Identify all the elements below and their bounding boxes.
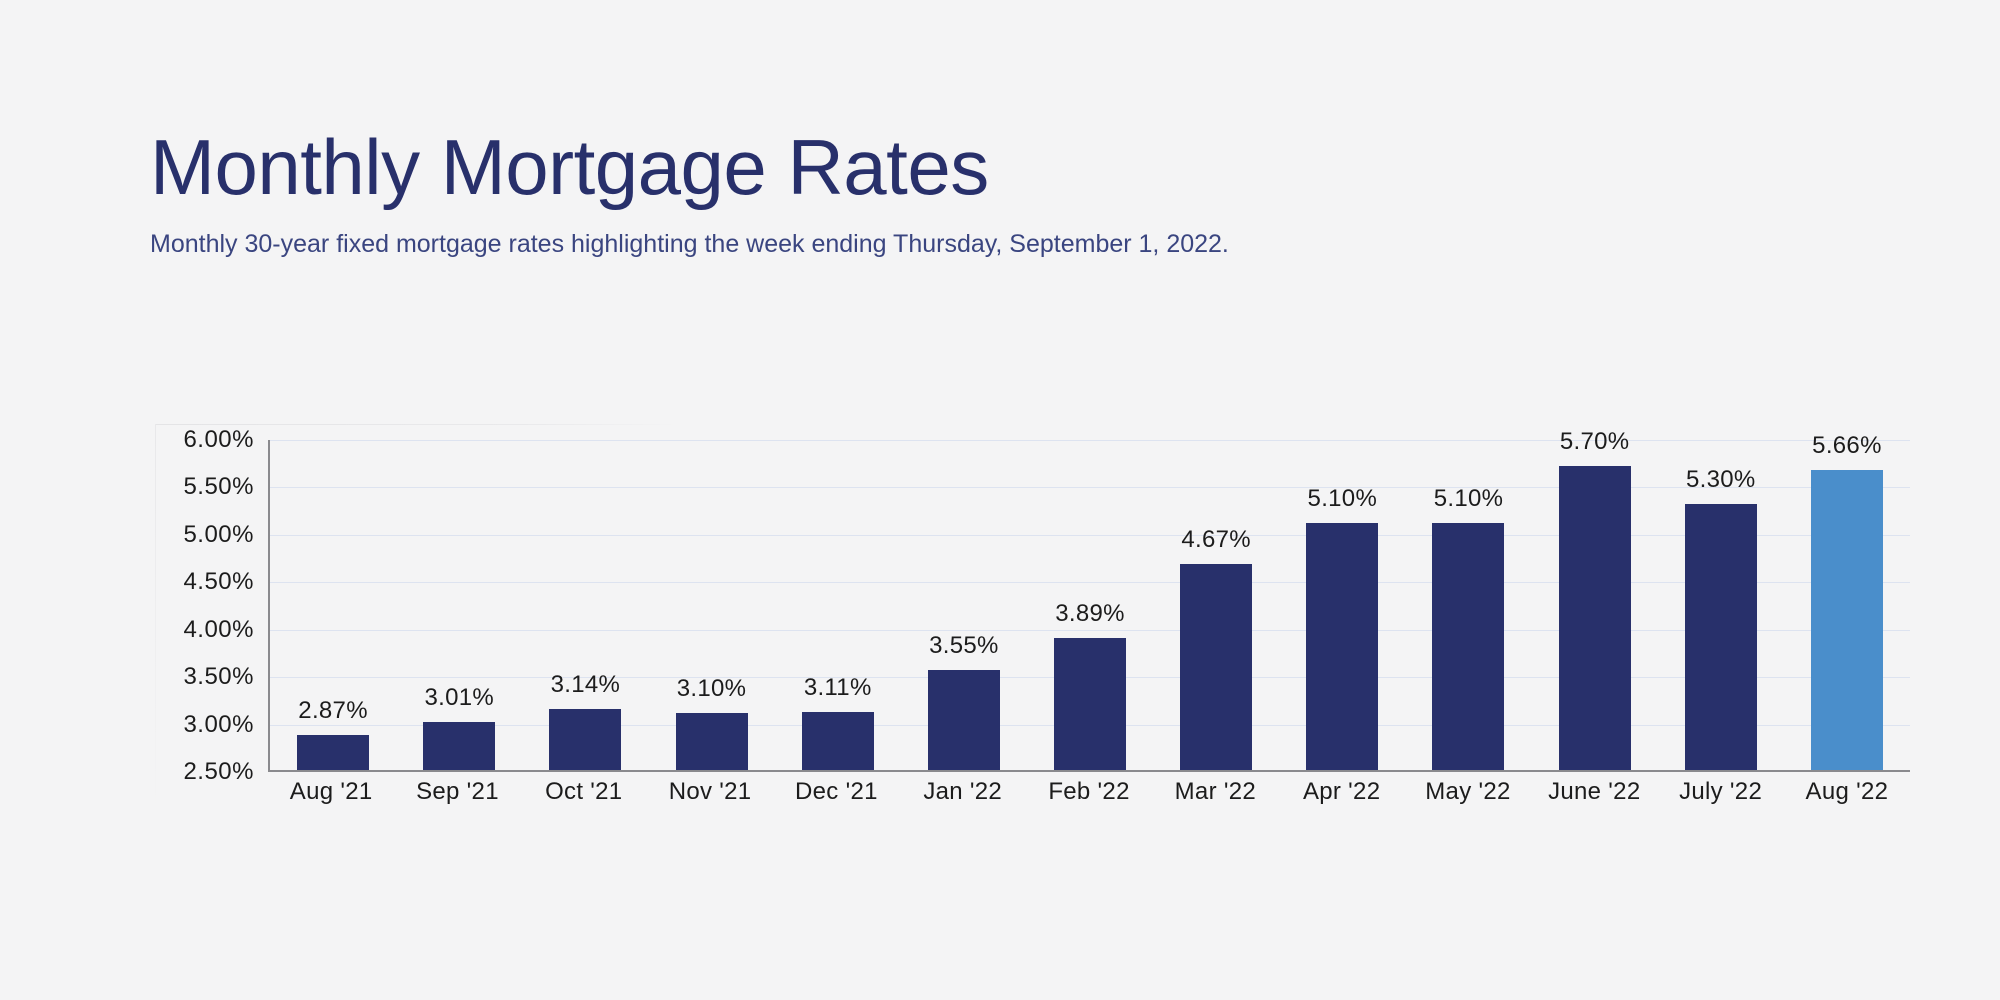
bar-slot: 4.67%	[1153, 440, 1279, 770]
bar-value-label: 2.87%	[298, 697, 368, 725]
bar[interactable]	[1306, 523, 1378, 770]
bar-value-label: 3.11%	[804, 674, 872, 702]
bar-highlighted[interactable]	[1811, 470, 1883, 770]
bar-slot: 3.10%	[648, 440, 774, 770]
x-axis-tick-label: Dec '21	[773, 778, 899, 806]
y-axis-tick-label: 6.00%	[183, 426, 254, 454]
x-axis-tick-label: Mar '22	[1152, 778, 1278, 806]
chart-page: Monthly Mortgage Rates Monthly 30-year f…	[0, 0, 2000, 1000]
bar-slot: 3.89%	[1027, 440, 1153, 770]
bar[interactable]	[1180, 564, 1252, 770]
bar-slot: 3.11%	[775, 440, 901, 770]
x-axis-tick-label: June '22	[1531, 778, 1657, 806]
x-axis-tick-label: Apr '22	[1279, 778, 1405, 806]
bar-chart: 6.00%5.50%5.00%4.50%4.00%3.50%3.00%2.50%…	[150, 440, 1910, 820]
bar-slot: 5.70%	[1532, 440, 1658, 770]
chart-header: Monthly Mortgage Rates Monthly 30-year f…	[150, 128, 1229, 259]
plot-area: 2.87%3.01%3.14%3.10%3.11%3.55%3.89%4.67%…	[268, 440, 1910, 772]
bar-slot: 5.30%	[1658, 440, 1784, 770]
x-axis-tick-label: Jan '22	[900, 778, 1026, 806]
x-axis-tick-label: May '22	[1405, 778, 1531, 806]
y-axis-tick-label: 3.00%	[183, 711, 254, 739]
bar[interactable]	[297, 735, 369, 770]
x-axis: Aug '21Sep '21Oct '21Nov '21Dec '21Jan '…	[268, 778, 1910, 806]
y-axis-tick-label: 2.50%	[183, 758, 254, 786]
bar-value-label: 3.55%	[929, 632, 999, 660]
y-axis-tick-label: 3.50%	[183, 663, 254, 691]
y-axis-tick-label: 5.50%	[183, 473, 254, 501]
x-axis-tick-label: Aug '21	[268, 778, 394, 806]
x-axis-tick-label: Aug '22	[1784, 778, 1910, 806]
x-axis-tick-label: Oct '21	[521, 778, 647, 806]
y-axis-tick-label: 4.00%	[183, 616, 254, 644]
bar-slot: 3.55%	[901, 440, 1027, 770]
x-axis-tick-label: Sep '21	[394, 778, 520, 806]
bar[interactable]	[423, 722, 495, 770]
x-axis-tick-label: Feb '22	[1026, 778, 1152, 806]
bar-value-label: 5.70%	[1560, 428, 1630, 456]
bar[interactable]	[1685, 504, 1757, 770]
y-axis-tick-label: 5.00%	[183, 521, 254, 549]
bar-value-label: 5.66%	[1812, 432, 1882, 460]
page-title: Monthly Mortgage Rates	[150, 128, 1229, 206]
page-subtitle: Monthly 30-year fixed mortgage rates hig…	[150, 230, 1229, 259]
x-axis-tick-label: Nov '21	[647, 778, 773, 806]
bar-value-label: 5.10%	[1308, 485, 1378, 513]
bar-value-label: 5.30%	[1686, 466, 1756, 494]
bar[interactable]	[549, 709, 621, 770]
bar[interactable]	[802, 712, 874, 770]
x-axis-tick-label: July '22	[1657, 778, 1783, 806]
bar-value-label: 3.89%	[1055, 600, 1125, 628]
bar-value-label: 3.10%	[677, 675, 747, 703]
bar-slot: 5.10%	[1279, 440, 1405, 770]
bar-value-label: 3.14%	[551, 671, 621, 699]
bar-slot: 5.10%	[1405, 440, 1531, 770]
panel-edge-decoration	[155, 424, 680, 425]
bar-slot: 3.01%	[396, 440, 522, 770]
bar-slot: 2.87%	[270, 440, 396, 770]
bar-value-label: 3.01%	[424, 684, 494, 712]
y-axis: 6.00%5.50%5.00%4.50%4.00%3.50%3.00%2.50%	[150, 440, 254, 800]
bar-slot: 3.14%	[522, 440, 648, 770]
bar-slot: 5.66%	[1784, 440, 1910, 770]
bar[interactable]	[1432, 523, 1504, 770]
bar[interactable]	[1054, 638, 1126, 770]
bar[interactable]	[928, 670, 1000, 770]
bar[interactable]	[1559, 466, 1631, 770]
bar-value-label: 4.67%	[1181, 526, 1251, 554]
bar-series: 2.87%3.01%3.14%3.10%3.11%3.55%3.89%4.67%…	[270, 440, 1910, 770]
y-axis-tick-label: 4.50%	[183, 568, 254, 596]
bar-value-label: 5.10%	[1434, 485, 1504, 513]
bar[interactable]	[676, 713, 748, 770]
